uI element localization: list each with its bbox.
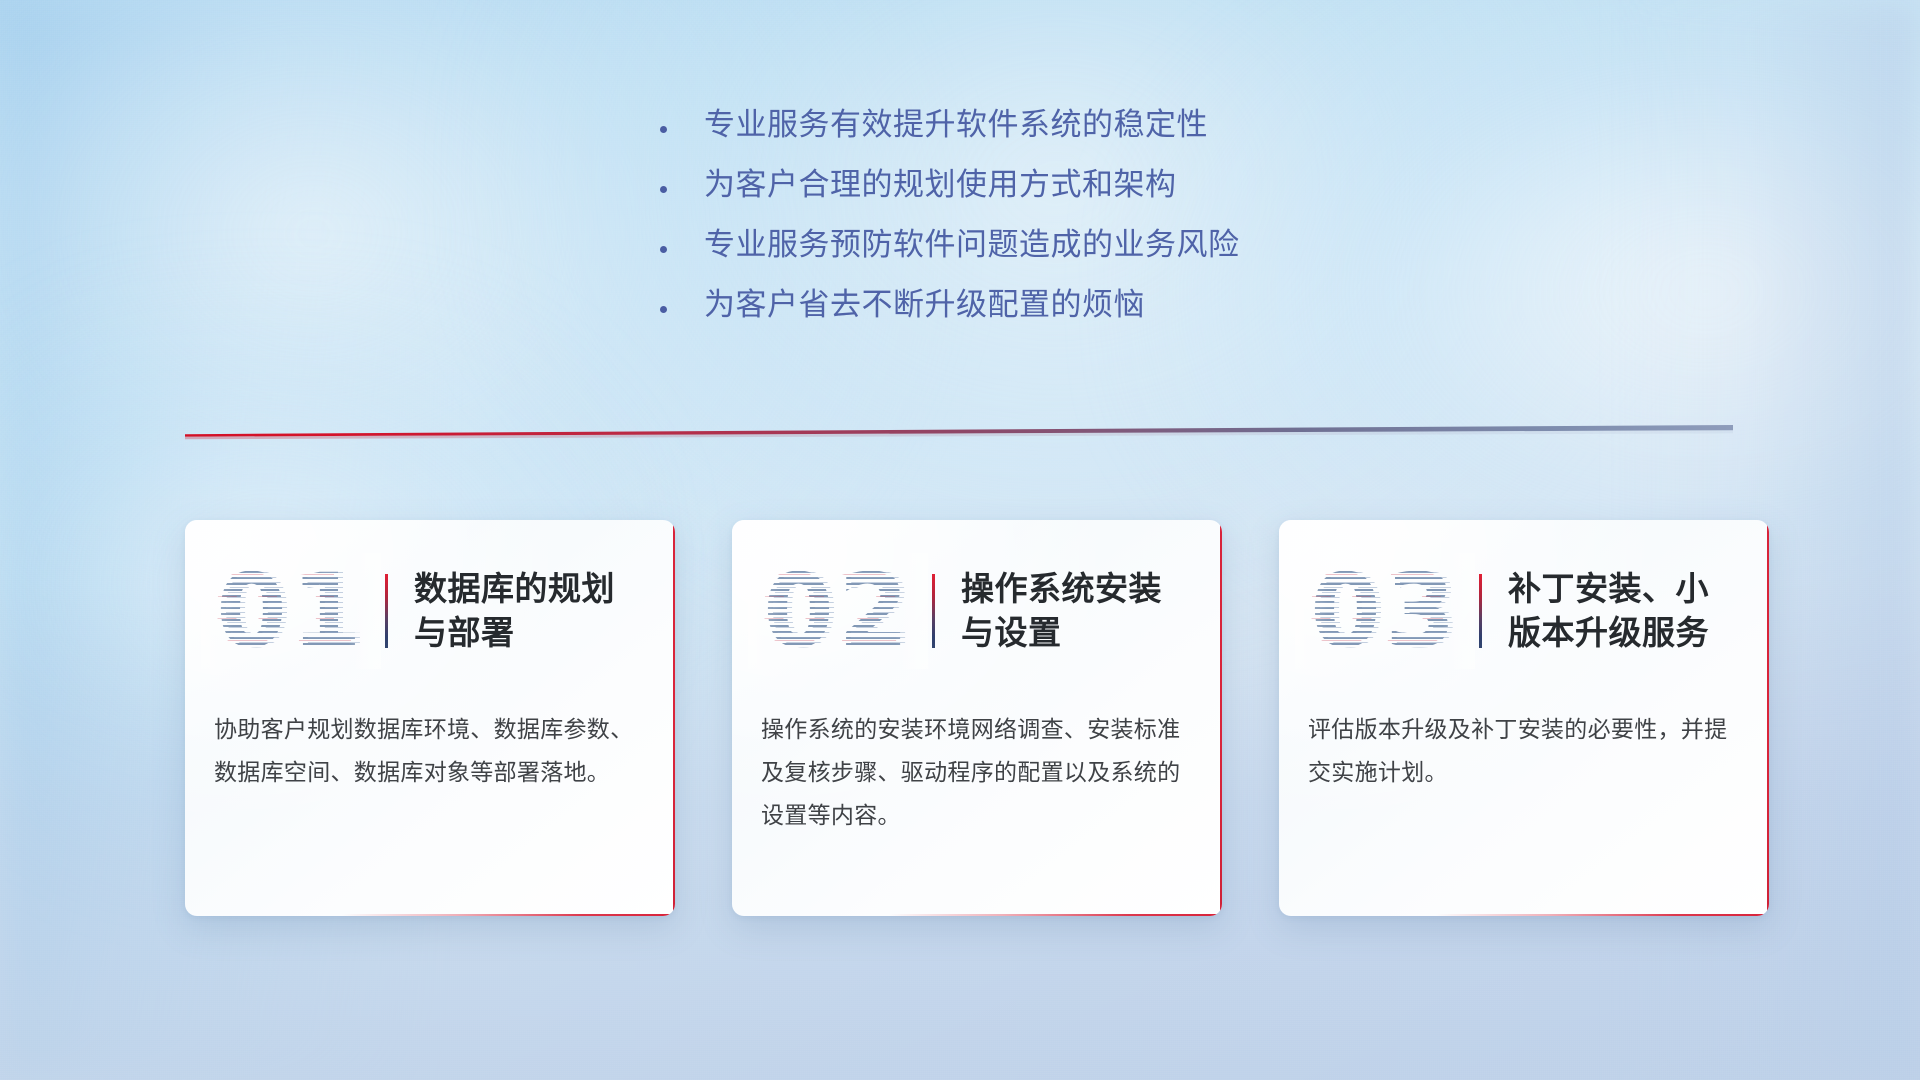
- card-title-line: 版本升级服务: [1508, 611, 1709, 655]
- card-number-layer: 01: [207, 559, 367, 663]
- card-bottom-accent: [342, 914, 675, 917]
- card-description: 操作系统的安装环境网络调查、安装标准及复核步骤、驱动程序的配置以及系统的设置等内…: [761, 708, 1186, 837]
- list-item: 专业服务预防软件问题造成的业务风险: [660, 224, 1240, 266]
- bullet-label: 为客户省去不断升级配置的烦恼: [704, 284, 1145, 326]
- card-description: 评估版本升级及补丁安装的必要性，并提交实施计划。: [1308, 708, 1733, 794]
- card-title: 操作系统安装 与设置: [961, 567, 1162, 655]
- section-divider: [185, 425, 1733, 441]
- card-right-accent: [1220, 520, 1223, 916]
- card-title-line: 补丁安装、小: [1508, 567, 1709, 611]
- card-bottom-accent: [1436, 914, 1769, 917]
- card-title-line: 与部署: [414, 611, 615, 655]
- card-number-watermark: 02 02 02: [758, 559, 918, 663]
- card-title-line: 操作系统安装: [961, 567, 1162, 611]
- card-header: 01 01 01 数据库的规划 与部署: [185, 546, 675, 676]
- service-card[interactable]: 02 02 02 操作系统安装 与设置 操作系统的安装环境网络调查、安装标准及复…: [732, 520, 1222, 916]
- bullet-label: 专业服务有效提升软件系统的稳定性: [704, 104, 1208, 146]
- list-item: 为客户省去不断升级配置的烦恼: [660, 284, 1240, 326]
- list-item: 专业服务有效提升软件系统的稳定性: [660, 104, 1240, 146]
- bullet-label: 专业服务预防软件问题造成的业务风险: [704, 224, 1240, 266]
- card-right-accent: [1767, 520, 1770, 916]
- benefits-bullet-list: 专业服务有效提升软件系统的稳定性 为客户合理的规划使用方式和架构 专业服务预防软…: [660, 104, 1240, 325]
- card-title-line: 数据库的规划: [414, 567, 615, 611]
- service-card[interactable]: 03 03 03 补丁安装、小 版本升级服务 评估版本升级及补丁安装的必要性，并…: [1279, 520, 1769, 916]
- bullet-dot-icon: [660, 246, 667, 253]
- bullet-dot-icon: [660, 126, 667, 133]
- card-number-watermark: 03 03 03: [1305, 559, 1465, 663]
- card-number-layer: 02: [754, 559, 914, 663]
- divider-shape-icon: [185, 425, 1733, 441]
- card-title-line: 与设置: [961, 611, 1162, 655]
- title-accent-bar: [932, 574, 935, 648]
- service-card[interactable]: 01 01 01 数据库的规划 与部署 协助客户规划数据库环境、数据库参数、数据…: [185, 520, 675, 916]
- card-number-watermark: 01 01 01: [211, 559, 371, 663]
- list-item: 为客户合理的规划使用方式和架构: [660, 164, 1240, 206]
- card-right-accent: [673, 520, 676, 916]
- card-description: 协助客户规划数据库环境、数据库参数、数据库空间、数据库对象等部署落地。: [214, 708, 639, 794]
- card-title: 补丁安装、小 版本升级服务: [1508, 567, 1709, 655]
- card-number-layer: 03: [1301, 559, 1461, 663]
- card-bottom-accent: [889, 914, 1222, 917]
- card-header: 02 02 02 操作系统安装 与设置: [732, 546, 1222, 676]
- bullet-dot-icon: [660, 306, 667, 313]
- card-title: 数据库的规划 与部署: [414, 567, 615, 655]
- bullet-label: 为客户合理的规划使用方式和架构: [704, 164, 1177, 206]
- title-accent-bar: [1479, 574, 1482, 648]
- title-accent-bar: [385, 574, 388, 648]
- card-header: 03 03 03 补丁安装、小 版本升级服务: [1279, 546, 1769, 676]
- service-card-grid: 01 01 01 数据库的规划 与部署 协助客户规划数据库环境、数据库参数、数据…: [185, 520, 1769, 916]
- bullet-dot-icon: [660, 186, 667, 193]
